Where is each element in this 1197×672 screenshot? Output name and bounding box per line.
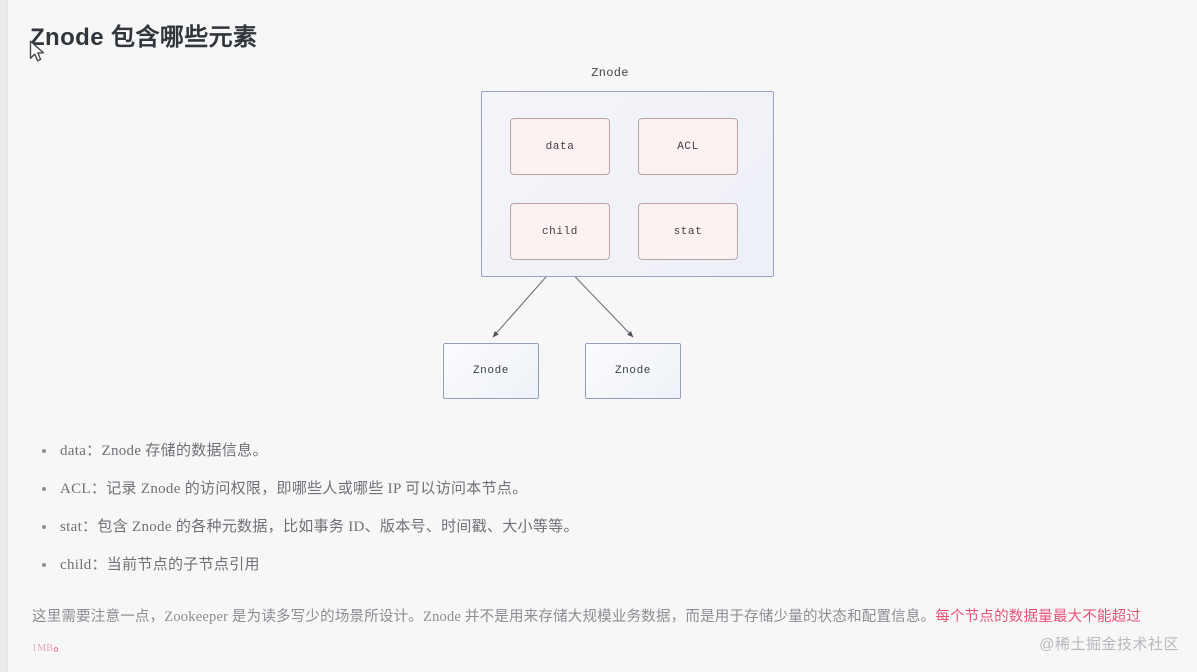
znode-diagram: Znode data ACL child stat Znode Znode bbox=[430, 66, 790, 406]
list-item: stat：包含 Znode 的各种元数据，比如事务 ID、版本号、时间戳、大小等… bbox=[38, 508, 938, 546]
znode-element-acl[interactable]: ACL bbox=[638, 118, 738, 175]
znode-element-data[interactable]: data bbox=[510, 118, 610, 175]
element-description-list: data：Znode 存储的数据信息。 ACL：记录 Znode 的访问权限，即… bbox=[38, 432, 938, 584]
list-item: ACL：记录 Znode 的访问权限，即哪些人或哪些 IP 可以访问本节点。 bbox=[38, 470, 938, 508]
note-highlight-first: 每个节点的数据量最大 bbox=[935, 609, 1082, 625]
note-highlight-end: 。 bbox=[53, 639, 68, 655]
left-edge-rail bbox=[0, 0, 8, 672]
list-item: data：Znode 存储的数据信息。 bbox=[38, 432, 938, 470]
note-highlight-size: 1MB bbox=[32, 643, 53, 654]
watermark: @稀土掘金技术社区 bbox=[1039, 633, 1179, 654]
child-znode-right[interactable]: Znode bbox=[585, 343, 681, 399]
list-item: child：当前节点的子节点引用 bbox=[38, 546, 938, 584]
znode-element-child[interactable]: child bbox=[510, 203, 610, 260]
note-plain-text: 这里需要注意一点，Zookeeper 是为读多写少的场景所设计。Znode 并不… bbox=[32, 609, 935, 625]
child-znode-left[interactable]: Znode bbox=[443, 343, 539, 399]
page-title: Znode 包含哪些元素 bbox=[30, 17, 257, 52]
page-root: Znode 包含哪些元素 Znode data ACL child stat Z… bbox=[0, 0, 1197, 672]
closing-note: 这里需要注意一点，Zookeeper 是为读多写少的场景所设计。Znode 并不… bbox=[32, 602, 1172, 664]
znode-element-stat[interactable]: stat bbox=[638, 203, 738, 260]
note-highlight-second: 不能超过 bbox=[1082, 609, 1141, 625]
